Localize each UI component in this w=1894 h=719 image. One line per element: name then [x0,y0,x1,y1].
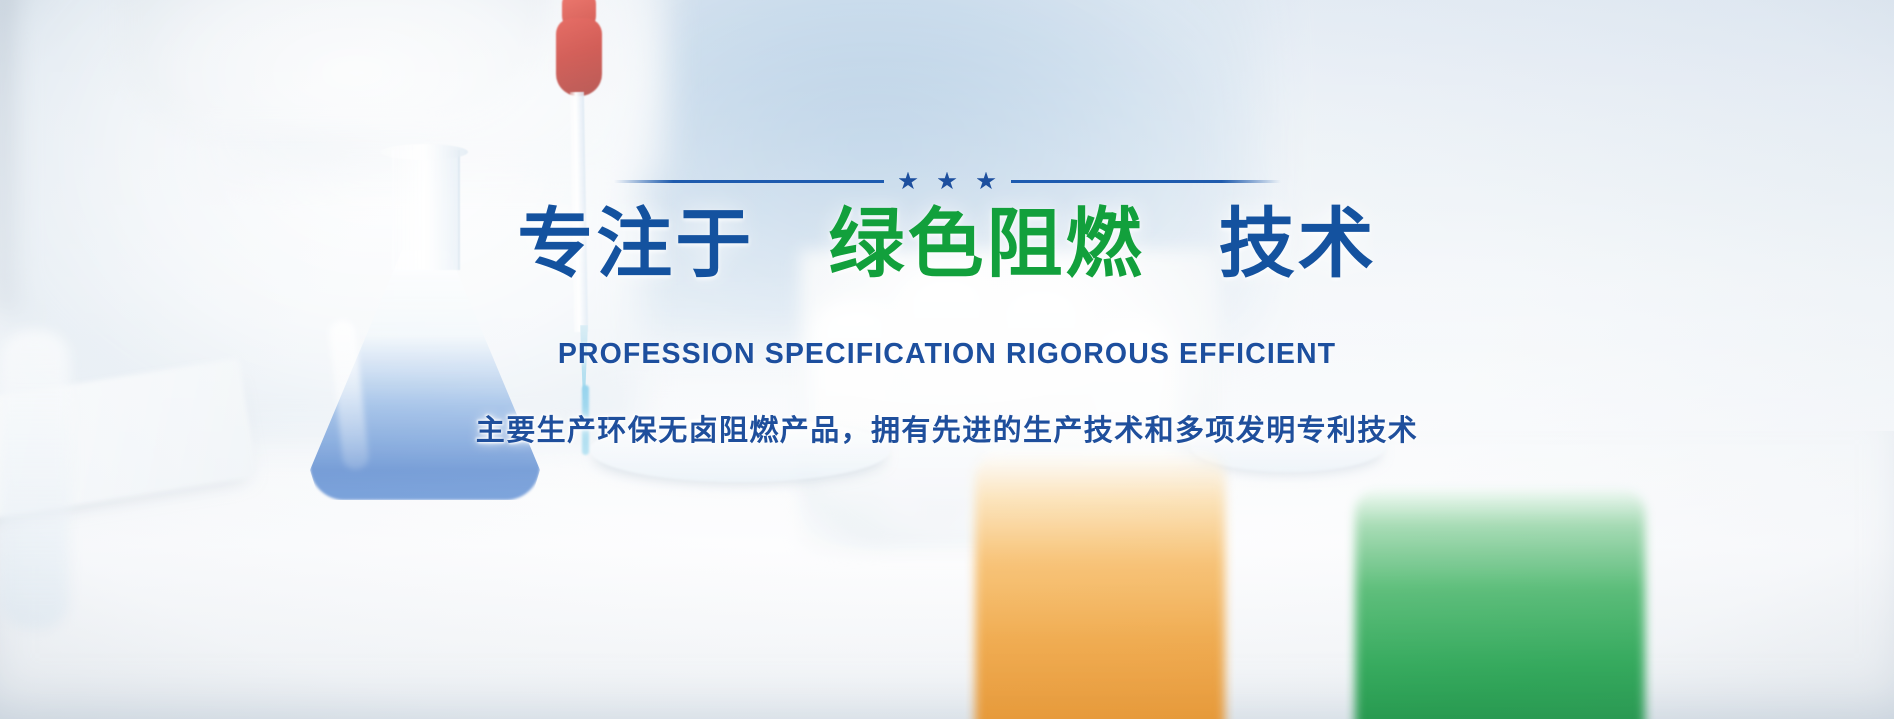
star-icon [899,172,918,191]
hero-banner: 专注于 绿色阻燃 技术 PROFESSION SPECIFICATION RIG… [0,0,1894,719]
divider-rule-right [1011,180,1281,183]
headline-part-1: 专注于 [517,202,754,287]
headline-subline: PROFESSION SPECIFICATION RIGOROUS EFFICI… [0,338,1894,371]
headline-part-2: 绿色阻燃 [829,202,1145,287]
star-icon [938,172,957,191]
headline: 专注于 绿色阻燃 技术 [0,202,1894,287]
divider [0,168,1894,194]
divider-rule-left [614,180,884,183]
banner-tagline: 主要生产环保无卤阻燃产品，拥有先进的生产技术和多项发明专利技术 [0,407,1894,449]
star-group [899,172,996,191]
headline-part-3: 技术 [1219,202,1377,287]
star-icon [977,172,996,191]
banner-content: 专注于 绿色阻燃 技术 PROFESSION SPECIFICATION RIG… [0,168,1894,449]
